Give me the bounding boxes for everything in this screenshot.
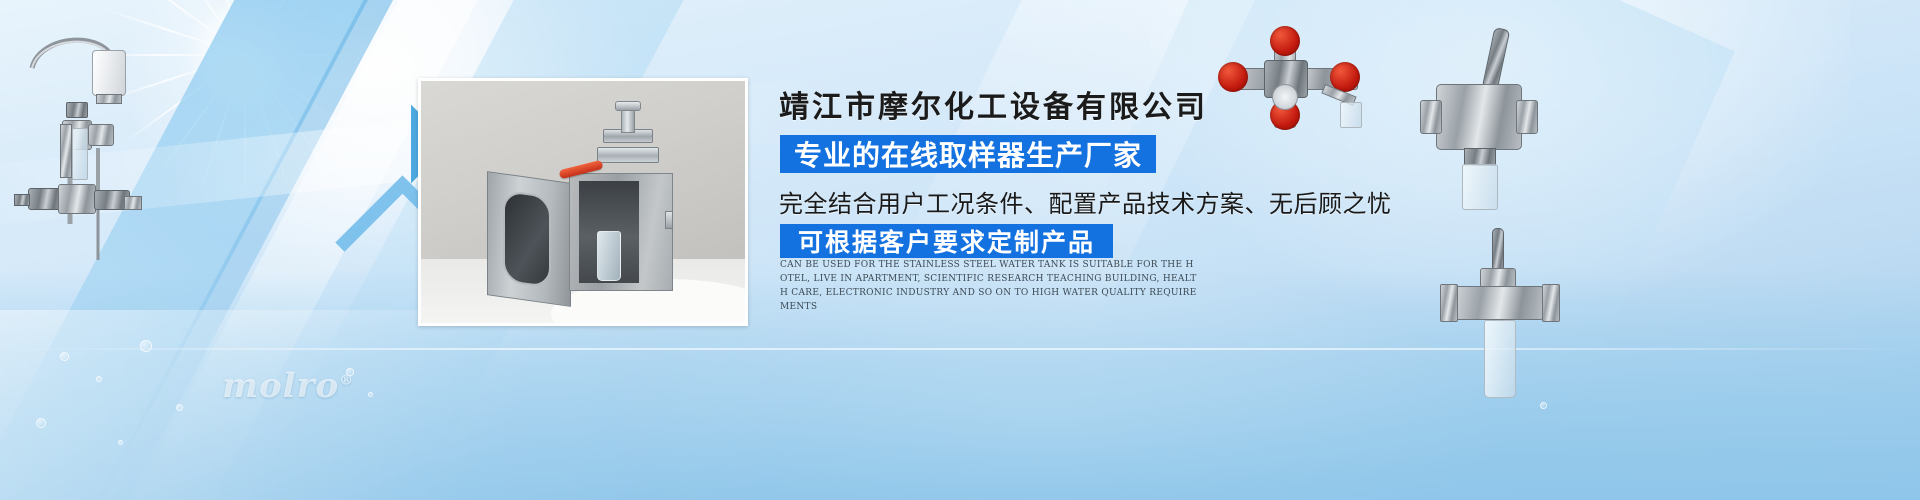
- product-photo-image: [421, 81, 745, 323]
- right-flange: [1516, 100, 1538, 134]
- left-flange: [1420, 100, 1442, 134]
- pipe-end: [14, 194, 30, 206]
- inline-sampler-valve: [1440, 228, 1560, 408]
- bubble-icon: [176, 404, 183, 411]
- product-photo[interactable]: [418, 78, 748, 326]
- bubble-icon: [96, 376, 102, 382]
- company-name: 靖江市摩尔化工设备有限公司: [779, 82, 1208, 126]
- registered-trademark-icon: ®: [339, 373, 354, 389]
- door-viewing-window: [503, 190, 551, 289]
- bubble-icon: [118, 440, 123, 445]
- tagline-primary-badge: 专业的在线取样器生产厂家: [780, 135, 1156, 173]
- cabinet-latch: [665, 211, 673, 229]
- left-flange: [1440, 284, 1458, 322]
- left-sampler-assembly: [10, 28, 170, 268]
- collection-bottle-icon: [1484, 320, 1516, 398]
- valve-body-main: [1436, 84, 1522, 150]
- sight-glass: [60, 124, 72, 178]
- instrument-neck: [96, 94, 122, 104]
- valve-knob: [615, 101, 641, 111]
- promotional-banner: 靖江市摩尔化工设备有限公司 专业的在线取样器生产厂家 完全结合用户工况条件、配置…: [0, 0, 1920, 500]
- watermark-logo: molro®: [222, 366, 354, 406]
- valve-stem: [621, 109, 635, 133]
- valve-body-main: [1454, 286, 1544, 320]
- bubble-icon: [60, 352, 69, 361]
- tagline-tertiary-badge: 可根据客户要求定制产品: [780, 224, 1113, 258]
- valve-body: [66, 102, 88, 118]
- pipe-fitting: [124, 196, 142, 210]
- bubble-icon: [140, 340, 152, 352]
- manifold-block: [58, 184, 96, 214]
- top-flange-assembly: [597, 147, 659, 163]
- bonnet: [1480, 268, 1516, 288]
- stem-handle-icon: [1492, 228, 1504, 272]
- tagline-secondary: 完全结合用户工况条件、配置产品技术方案、无后顾之忧: [779, 184, 1392, 219]
- english-description: CAN BE USED FOR THE STAINLESS STEEL WATE…: [780, 258, 1200, 314]
- watermark-text: molro: [222, 366, 339, 406]
- valve-body: [28, 188, 62, 210]
- right-flange: [1542, 284, 1560, 322]
- sun-core-icon: [185, 0, 305, 115]
- sample-bottle: [597, 231, 621, 281]
- bubble-icon: [368, 392, 373, 397]
- lever-handle-icon: [1482, 27, 1511, 91]
- sight-glass-tube: [72, 128, 88, 180]
- banner-text-column: 靖江市摩尔化工设备有限公司 专业的在线取样器生产厂家 完全结合用户工况条件、配置…: [775, 0, 1415, 500]
- valve-body: [88, 124, 114, 146]
- instrument-housing: [92, 50, 126, 96]
- sample-bottle-icon: [1462, 164, 1498, 210]
- lever-handle-valve: [1418, 22, 1538, 212]
- bubble-icon: [36, 418, 46, 428]
